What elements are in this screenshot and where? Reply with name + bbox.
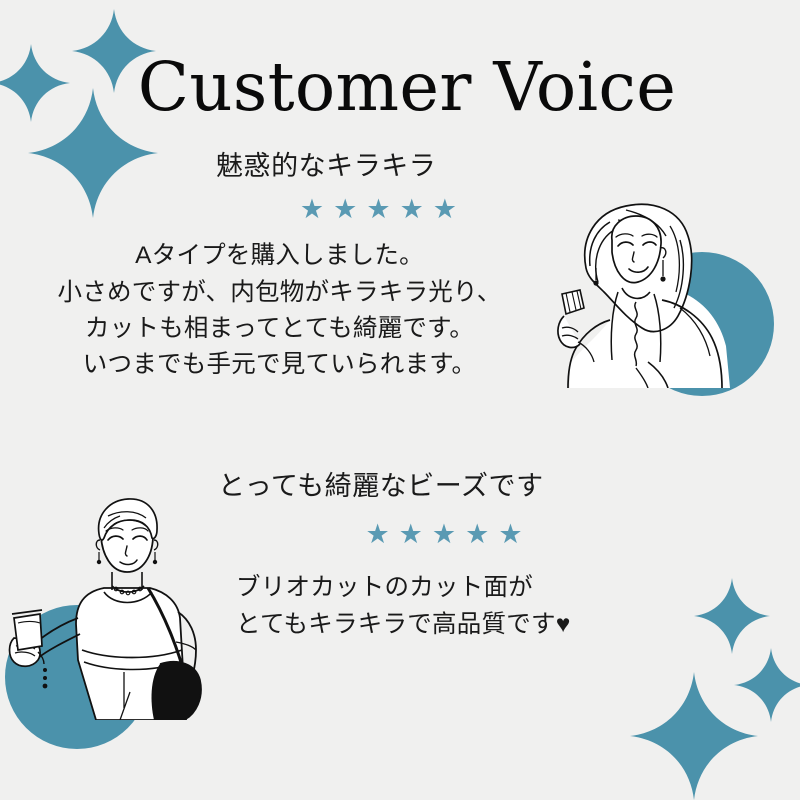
woman-short-hair-with-bag-illustration	[0, 492, 230, 730]
review-2-body: ブリオカットのカット面が とてもキラキラで高品質です♥	[200, 570, 660, 643]
review-card-2: とっても綺麗なビーズです ★ ★ ★ ★ ★ ブリオカットのカット面が とてもキ…	[200, 470, 660, 643]
review-card-1: 魅惑的なキラキラ ★ ★ ★ ★ ★ Aタイプを購入しました。 小さめですが、内…	[0, 150, 545, 383]
star-icon: ★	[432, 521, 456, 548]
star-icon: ★	[365, 521, 389, 548]
star-icon: ★	[465, 521, 489, 548]
review-2-heading: とっても綺麗なビーズです	[200, 470, 660, 502]
star-icon: ★	[399, 521, 423, 548]
star-icon: ★	[400, 196, 424, 223]
star-icon: ★	[433, 196, 457, 223]
star-icon: ★	[333, 196, 357, 223]
customer-voice-banner: Customer Voice	[0, 0, 800, 800]
page-title: Customer Voice	[0, 54, 800, 121]
sparkle-bottom-right-small-upper	[694, 578, 770, 654]
woman-long-wavy-hair-illustration	[530, 196, 800, 436]
star-icon: ★	[366, 196, 390, 223]
star-icon: ★	[498, 521, 522, 548]
sparkle-bottom-right-small-right	[734, 648, 800, 722]
illustration-review-1	[530, 196, 800, 436]
review-2-rating: ★ ★ ★ ★ ★	[200, 521, 660, 548]
illustration-review-2	[0, 492, 230, 730]
review-1-heading: 魅惑的なキラキラ	[0, 150, 545, 182]
review-1-rating: ★ ★ ★ ★ ★	[0, 196, 545, 223]
star-icon: ★	[300, 196, 324, 223]
review-1-body: Aタイプを購入しました。 小さめですが、内包物がキラキラ光り、 カットも相まって…	[0, 238, 545, 383]
sparkle-bottom-right-large	[630, 672, 758, 800]
